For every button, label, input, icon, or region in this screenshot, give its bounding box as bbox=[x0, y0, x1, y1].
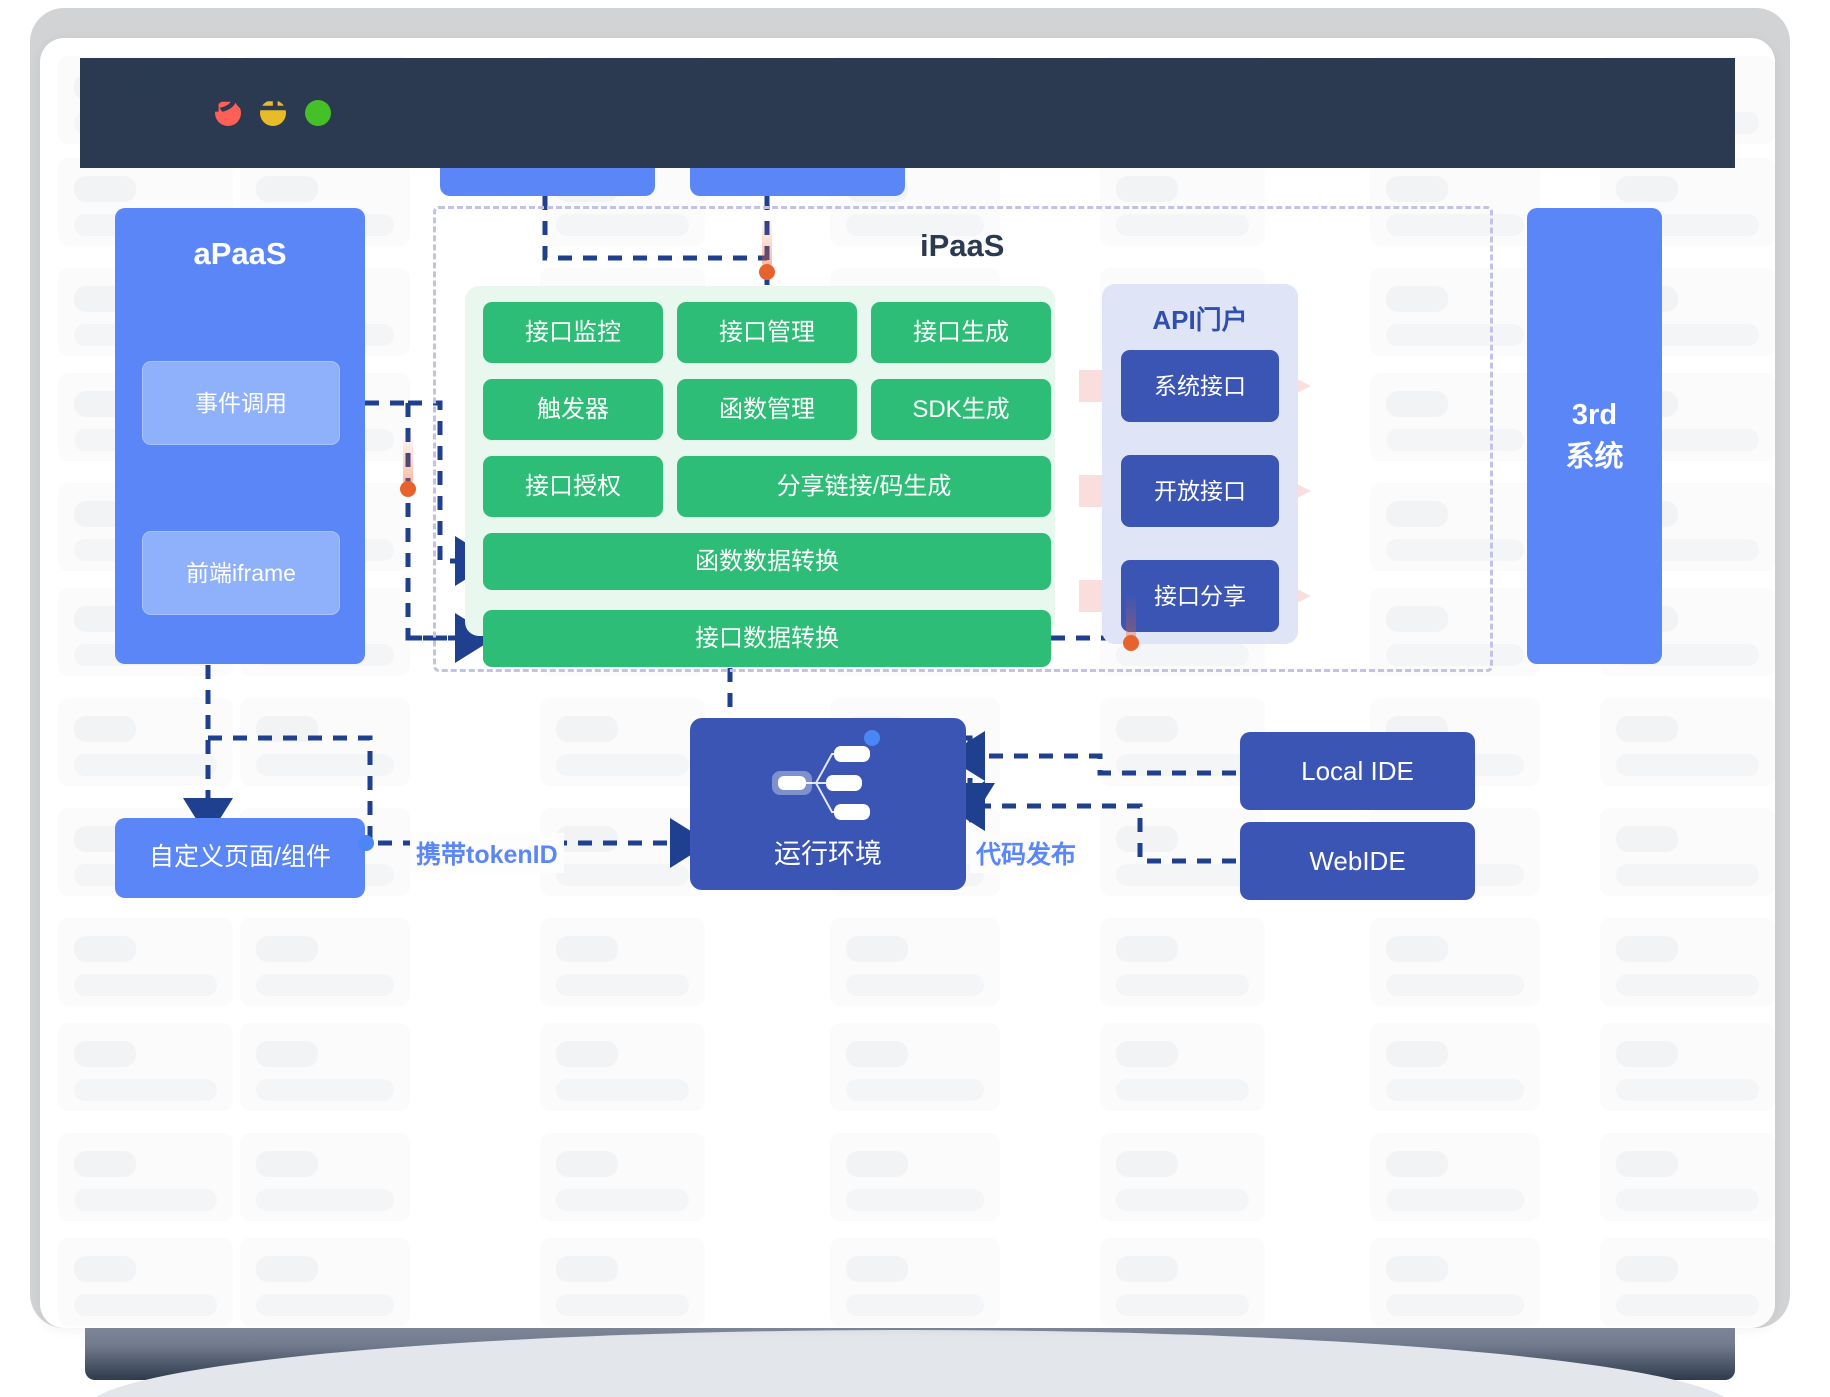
background-chip bbox=[1616, 176, 1678, 202]
background-bar bbox=[1116, 1189, 1249, 1211]
background-bar bbox=[1386, 1079, 1524, 1101]
background-bar bbox=[74, 974, 217, 996]
background-bar bbox=[556, 1189, 689, 1211]
background-bar bbox=[1386, 974, 1524, 996]
node-custom-page-component[interactable]: 自定义页面/组件 bbox=[115, 818, 365, 898]
screen: 集成模型 bbox=[40, 38, 1775, 1328]
background-chip bbox=[556, 716, 618, 742]
background-chip bbox=[846, 1041, 908, 1067]
background-bar bbox=[1116, 1294, 1249, 1316]
background-chip bbox=[74, 1151, 136, 1177]
background-chip bbox=[556, 1151, 618, 1177]
background-bar bbox=[1616, 974, 1759, 996]
background-chip bbox=[1616, 1041, 1678, 1067]
background-chip bbox=[556, 826, 618, 852]
background-chip bbox=[1116, 936, 1178, 962]
background-bar bbox=[846, 974, 984, 996]
flow-dot-trail bbox=[403, 433, 413, 485]
node-trigger[interactable]: 触发器 bbox=[483, 379, 663, 440]
background-bar bbox=[556, 864, 689, 886]
background-chip bbox=[1386, 1041, 1448, 1067]
background-bar bbox=[846, 1079, 984, 1101]
panel-apaas-title: aPaaS bbox=[115, 236, 365, 272]
background-chip bbox=[1616, 826, 1678, 852]
background-chip bbox=[1386, 936, 1448, 962]
background-bar bbox=[1386, 1189, 1524, 1211]
background-chip bbox=[1616, 716, 1678, 742]
node-api-share[interactable]: 接口分享 bbox=[1121, 560, 1279, 632]
background-chip bbox=[1386, 1151, 1448, 1177]
background-chip bbox=[1386, 176, 1448, 202]
node-share-link-code[interactable]: 分享链接/码生成 bbox=[677, 456, 1051, 517]
flow-dot-swagger bbox=[759, 264, 775, 280]
node-api-generate[interactable]: 接口生成 bbox=[871, 302, 1051, 363]
background-bar bbox=[1116, 754, 1249, 776]
background-chip bbox=[1616, 1256, 1678, 1282]
flow-dot-deploy bbox=[864, 730, 880, 746]
node-function-manage[interactable]: 函数管理 bbox=[677, 379, 857, 440]
node-local-ide[interactable]: Local IDE bbox=[1240, 732, 1475, 810]
background-bar bbox=[74, 1079, 217, 1101]
background-bar bbox=[256, 974, 394, 996]
node-event-call[interactable]: 事件调用 bbox=[142, 361, 340, 445]
background-chip bbox=[74, 716, 136, 742]
flow-dot-trail bbox=[762, 216, 772, 268]
background-bar bbox=[1616, 1294, 1759, 1316]
background-bar bbox=[256, 1294, 394, 1316]
background-bar bbox=[556, 754, 689, 776]
background-bar bbox=[74, 1189, 217, 1211]
third-party-line2: 系统 bbox=[1565, 439, 1623, 475]
background-bar bbox=[556, 1294, 689, 1316]
background-chip bbox=[74, 936, 136, 962]
background-bar bbox=[1616, 1189, 1759, 1211]
flow-dot-event bbox=[400, 481, 416, 497]
background-bar bbox=[1116, 864, 1249, 886]
background-chip bbox=[74, 1041, 136, 1067]
background-chip bbox=[1116, 1151, 1178, 1177]
background-chip bbox=[256, 1151, 318, 1177]
background-chip bbox=[1116, 716, 1178, 742]
node-front-iframe[interactable]: 前端iframe bbox=[142, 531, 340, 615]
background-bar bbox=[846, 1189, 984, 1211]
panel-ipaas-title: iPaaS bbox=[920, 228, 1004, 264]
background-chip bbox=[556, 936, 618, 962]
panel-api-gateway-title: API门户 bbox=[1102, 300, 1298, 337]
background-bar bbox=[556, 1079, 689, 1101]
background-chip bbox=[256, 1256, 318, 1282]
third-party-line1: 3rd bbox=[1572, 397, 1617, 433]
background-bar bbox=[74, 1294, 217, 1316]
node-system-api[interactable]: 系统接口 bbox=[1121, 350, 1279, 422]
background-bar bbox=[1116, 974, 1249, 996]
background-bar bbox=[74, 754, 217, 776]
background-chip bbox=[74, 1256, 136, 1282]
background-bar bbox=[256, 1189, 394, 1211]
node-open-api[interactable]: 开放接口 bbox=[1121, 455, 1279, 527]
node-sdk-generate[interactable]: SDK生成 bbox=[871, 379, 1051, 440]
edge-label-carry-token: 携带tokenID bbox=[410, 833, 564, 873]
background-chip bbox=[1116, 826, 1178, 852]
background-bar bbox=[1616, 864, 1759, 886]
background-chip bbox=[1616, 936, 1678, 962]
node-api-data-transform[interactable]: 接口数据转换 bbox=[483, 610, 1051, 667]
background-chip bbox=[74, 176, 136, 202]
background-bar bbox=[256, 754, 394, 776]
background-chip bbox=[556, 1256, 618, 1282]
background-bar bbox=[1616, 1079, 1759, 1101]
flow-dot-token bbox=[358, 835, 374, 851]
background-chip bbox=[846, 936, 908, 962]
node-api-manage[interactable]: 接口管理 bbox=[677, 302, 857, 363]
maximize-window-icon[interactable] bbox=[305, 100, 331, 126]
window-title-bar bbox=[80, 58, 1735, 168]
background-bar bbox=[556, 974, 689, 996]
background-chip bbox=[1116, 176, 1178, 202]
background-bar bbox=[1386, 1294, 1524, 1316]
node-api-auth[interactable]: 接口授权 bbox=[483, 456, 663, 517]
node-third-party-system[interactable]: 3rd 系统 bbox=[1527, 208, 1662, 664]
node-web-ide[interactable]: WebIDE bbox=[1240, 822, 1475, 900]
background-bar bbox=[1616, 754, 1759, 776]
background-chip bbox=[846, 1256, 908, 1282]
background-chip bbox=[1616, 1151, 1678, 1177]
background-chip bbox=[556, 1041, 618, 1067]
diagram-canvas: 集成模型 bbox=[40, 38, 1775, 1328]
node-api-monitor[interactable]: 接口监控 bbox=[483, 302, 663, 363]
node-function-data-transform[interactable]: 函数数据转换 bbox=[483, 533, 1051, 590]
background-chip bbox=[256, 716, 318, 742]
flow-dot-share bbox=[1123, 635, 1139, 651]
background-chip bbox=[256, 1041, 318, 1067]
page-title: 集成模型 bbox=[115, 56, 299, 120]
background-bar bbox=[256, 1079, 394, 1101]
background-chip bbox=[256, 176, 318, 202]
edge-label-code-publish: 代码发布 bbox=[970, 833, 1082, 873]
tree-branch-icon bbox=[750, 740, 910, 826]
background-chip bbox=[846, 1151, 908, 1177]
background-chip bbox=[1386, 1256, 1448, 1282]
background-chip bbox=[256, 936, 318, 962]
background-chip bbox=[1116, 1256, 1178, 1282]
background-chip bbox=[1116, 1041, 1178, 1067]
background-bar bbox=[1116, 1079, 1249, 1101]
background-bar bbox=[846, 1294, 984, 1316]
